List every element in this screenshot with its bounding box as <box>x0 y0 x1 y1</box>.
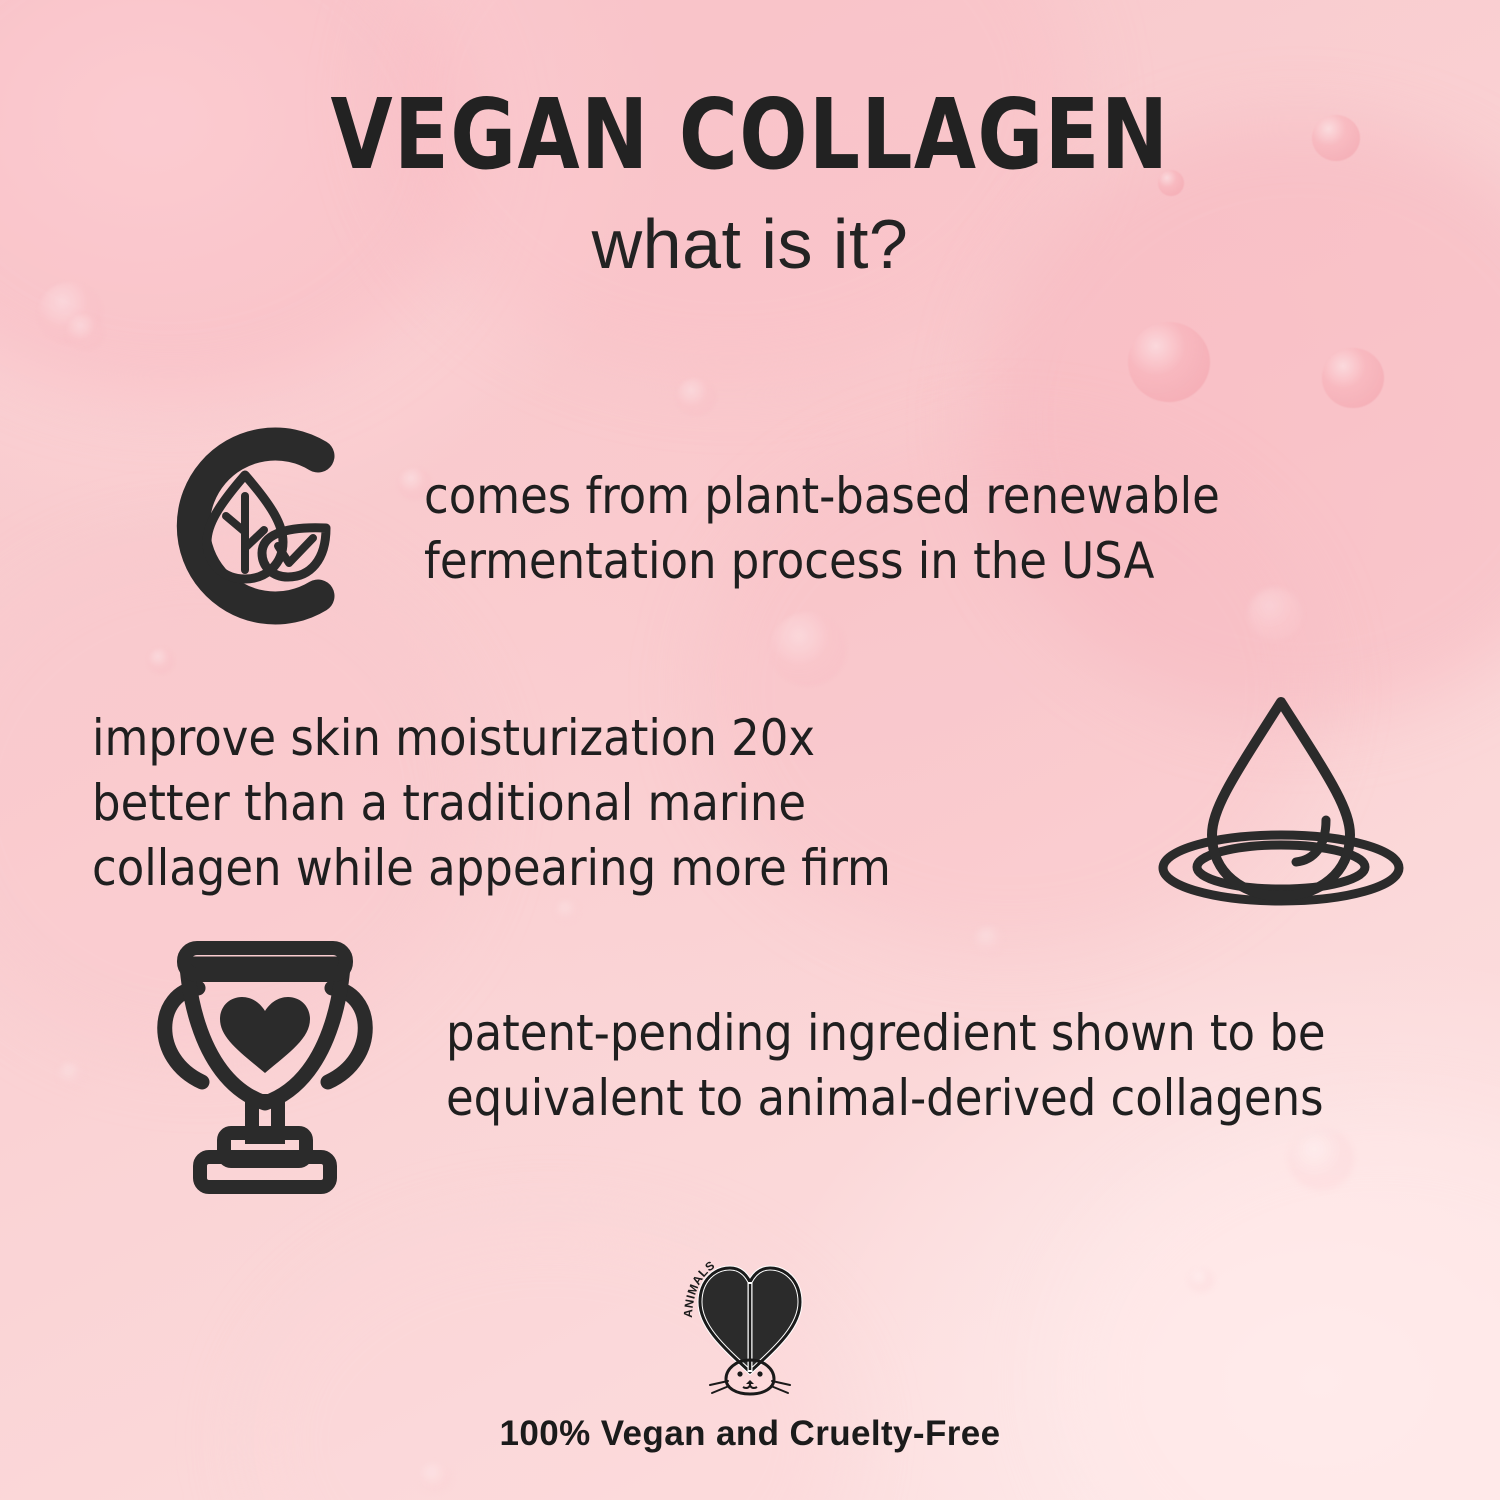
feature-text-plant-based: comes from plant-based renewable ferment… <box>424 464 1220 594</box>
feature-row-plant-based: comes from plant-based renewable ferment… <box>150 420 1220 637</box>
poster-canvas: VEGAN COLLAGEN what is it? comes from pl… <box>0 0 1500 1500</box>
page-title: VEGAN COLLAGEN <box>60 86 1440 183</box>
feature-text-patent-pending: patent-pending ingredient shown to be eq… <box>446 1001 1326 1131</box>
cruelty-free-bunny-icon: ANIMALS <box>0 1248 1500 1398</box>
feature-line: equivalent to animal-derived collagens <box>446 1066 1326 1131</box>
feature-line: patent-pending ingredient shown to be <box>446 1001 1326 1066</box>
feature-line: comes from plant-based renewable <box>424 464 1220 529</box>
page-subtitle: what is it? <box>0 209 1500 279</box>
trophy-heart-icon <box>140 930 390 1201</box>
feature-line: collagen while appearing more firm <box>92 836 891 901</box>
feature-line: fermentation process in the USA <box>424 529 1220 594</box>
feature-line: improve skin moisturization 20x <box>92 706 891 771</box>
cruelty-free-label: 100% Vegan and Cruelty-Free <box>0 1414 1500 1454</box>
water-drop-icon <box>1150 690 1412 917</box>
feature-row-patent-pending: patent-pending ingredient shown to be eq… <box>140 930 1326 1201</box>
feature-text-moisturization: improve skin moisturization 20x better t… <box>92 706 891 901</box>
header: VEGAN COLLAGEN what is it? <box>0 86 1500 279</box>
feature-row-moisturization: improve skin moisturization 20x better t… <box>92 690 1412 917</box>
footer: ANIMALS 100% Vegan and Cruelty-Free <box>0 1248 1500 1454</box>
collagen-leaf-icon <box>150 420 362 637</box>
feature-line: better than a traditional marine <box>92 771 891 836</box>
